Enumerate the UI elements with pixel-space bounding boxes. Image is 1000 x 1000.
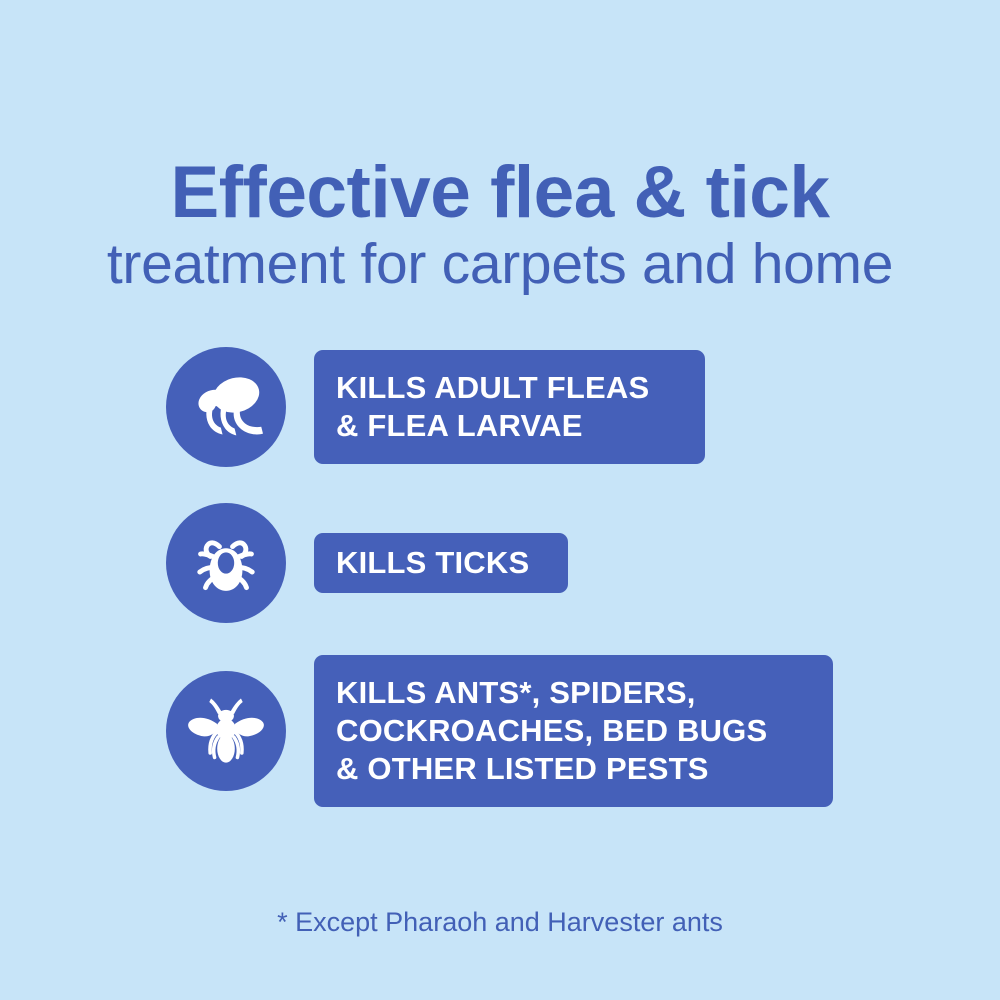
claim-chip-fleas: KILLS ADULT FLEAS & FLEA LARVAE (314, 350, 705, 464)
claim-chip-other-pests: KILLS ANTS*, SPIDERS, COCKROACHES, BED B… (314, 655, 833, 807)
claim-chip-ticks: KILLS TICKS (314, 533, 568, 593)
bee-insect-icon-badge (166, 671, 286, 791)
flea-icon (183, 364, 269, 450)
bee-insect-icon (182, 687, 270, 775)
headline-secondary: treatment for carpets and home (0, 231, 1000, 297)
feature-row-fleas: KILLS ADULT FLEAS & FLEA LARVAE (166, 347, 866, 467)
tick-icon-badge (166, 503, 286, 623)
footnote: * Except Pharaoh and Harvester ants (0, 905, 1000, 939)
headline-block: Effective flea & tick treatment for carp… (0, 155, 1000, 297)
feature-row-other-pests: KILLS ANTS*, SPIDERS, COCKROACHES, BED B… (166, 661, 866, 801)
tick-icon (185, 522, 267, 604)
feature-list: KILLS ADULT FLEAS & FLEA LARVAE (166, 347, 866, 801)
promo-card: Effective flea & tick treatment for carp… (0, 0, 1000, 1000)
flea-icon-badge (166, 347, 286, 467)
feature-row-ticks: KILLS TICKS (166, 503, 866, 623)
headline-primary: Effective flea & tick (0, 155, 1000, 231)
